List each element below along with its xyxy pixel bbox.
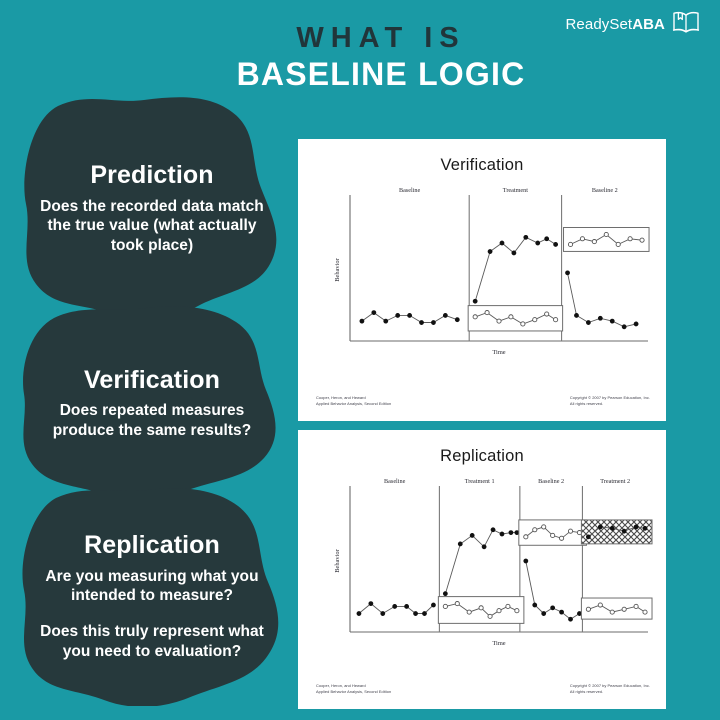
chart-plot-verification: BaselineTreatmentBaseline 2BehaviorTime xyxy=(310,183,654,363)
chart-copyright-line2: All rights reserved. xyxy=(570,401,650,407)
svg-text:Behavior: Behavior xyxy=(334,257,341,281)
chart-plot-replication: BaselineTreatment 1Baseline 2Treatment 2… xyxy=(310,474,654,654)
brand-logo-text: ReadySetABA xyxy=(566,16,666,33)
open-book-icon xyxy=(672,10,700,39)
svg-text:Time: Time xyxy=(492,349,505,356)
svg-text:Baseline: Baseline xyxy=(384,478,406,485)
brand-name-bold: ABA xyxy=(632,16,665,33)
concept-paragraph: Does the recorded data match the true va… xyxy=(30,197,274,256)
concept-card-body: Prediction Does the recorded data match … xyxy=(26,162,278,256)
concept-heading: Prediction xyxy=(30,162,274,190)
concept-paragraph: Does this truly represent what you need … xyxy=(30,622,274,662)
chart-copyright: Copyright © 2007 by Pearson Education, I… xyxy=(570,395,650,407)
chart-credit: Cooper, Heron, and Heward Applied Behavi… xyxy=(316,395,391,407)
page-title-line1: WHAT IS xyxy=(236,22,526,54)
chart-svg: BaselineTreatment 1Baseline 2Treatment 2… xyxy=(310,474,654,654)
brand-name-light: ReadySet xyxy=(566,16,633,33)
concept-card-verification: Verification Does repeated measures prod… xyxy=(18,306,286,502)
svg-text:Treatment 1: Treatment 1 xyxy=(465,478,495,485)
chart-title: Verification xyxy=(298,139,666,175)
concept-heading: Replication xyxy=(30,532,274,560)
svg-text:Treatment: Treatment xyxy=(503,187,528,194)
brand-logo: ReadySetABA xyxy=(566,10,701,39)
chart-credit-line2: Applied Behavior Analysis, Second Editio… xyxy=(316,689,391,695)
svg-text:Treatment 2: Treatment 2 xyxy=(600,478,630,485)
concepts-column: Prediction Does the recorded data match … xyxy=(18,96,286,706)
svg-text:Baseline 2: Baseline 2 xyxy=(592,187,618,194)
concept-card-body: Replication Are you measuring what you i… xyxy=(26,532,278,662)
concept-card-body: Verification Does repeated measures prod… xyxy=(26,367,278,441)
svg-text:Time: Time xyxy=(492,640,505,647)
concept-card-prediction: Prediction Does the recorded data match … xyxy=(18,96,286,322)
chart-svg: BaselineTreatmentBaseline 2BehaviorTime xyxy=(310,183,654,363)
page-title: WHAT IS BASELINE LOGIC xyxy=(236,22,526,93)
svg-text:Baseline 2: Baseline 2 xyxy=(538,478,564,485)
svg-text:Behavior: Behavior xyxy=(334,548,341,572)
page-title-line2: BASELINE LOGIC xyxy=(236,56,526,93)
chart-card-replication: Replication BaselineTreatment 1Baseline … xyxy=(298,430,666,709)
chart-copyright-line2: All rights reserved. xyxy=(570,689,650,695)
concept-paragraph: Are you measuring what you intended to m… xyxy=(30,567,274,607)
chart-title: Replication xyxy=(298,430,666,466)
concept-card-replication: Replication Are you measuring what you i… xyxy=(18,488,286,706)
chart-credit-line2: Applied Behavior Analysis, Second Editio… xyxy=(316,401,391,407)
chart-credit: Cooper, Heron, and Heward Applied Behavi… xyxy=(316,683,391,695)
chart-footer: Cooper, Heron, and Heward Applied Behavi… xyxy=(316,683,650,695)
concept-paragraph: Does repeated measures produce the same … xyxy=(30,401,274,441)
chart-card-verification: Verification BaselineTreatmentBaseline 2… xyxy=(298,139,666,421)
svg-text:Baseline: Baseline xyxy=(399,187,421,194)
chart-copyright: Copyright © 2007 by Pearson Education, I… xyxy=(570,683,650,695)
chart-footer: Cooper, Heron, and Heward Applied Behavi… xyxy=(316,395,650,407)
concept-heading: Verification xyxy=(30,367,274,395)
